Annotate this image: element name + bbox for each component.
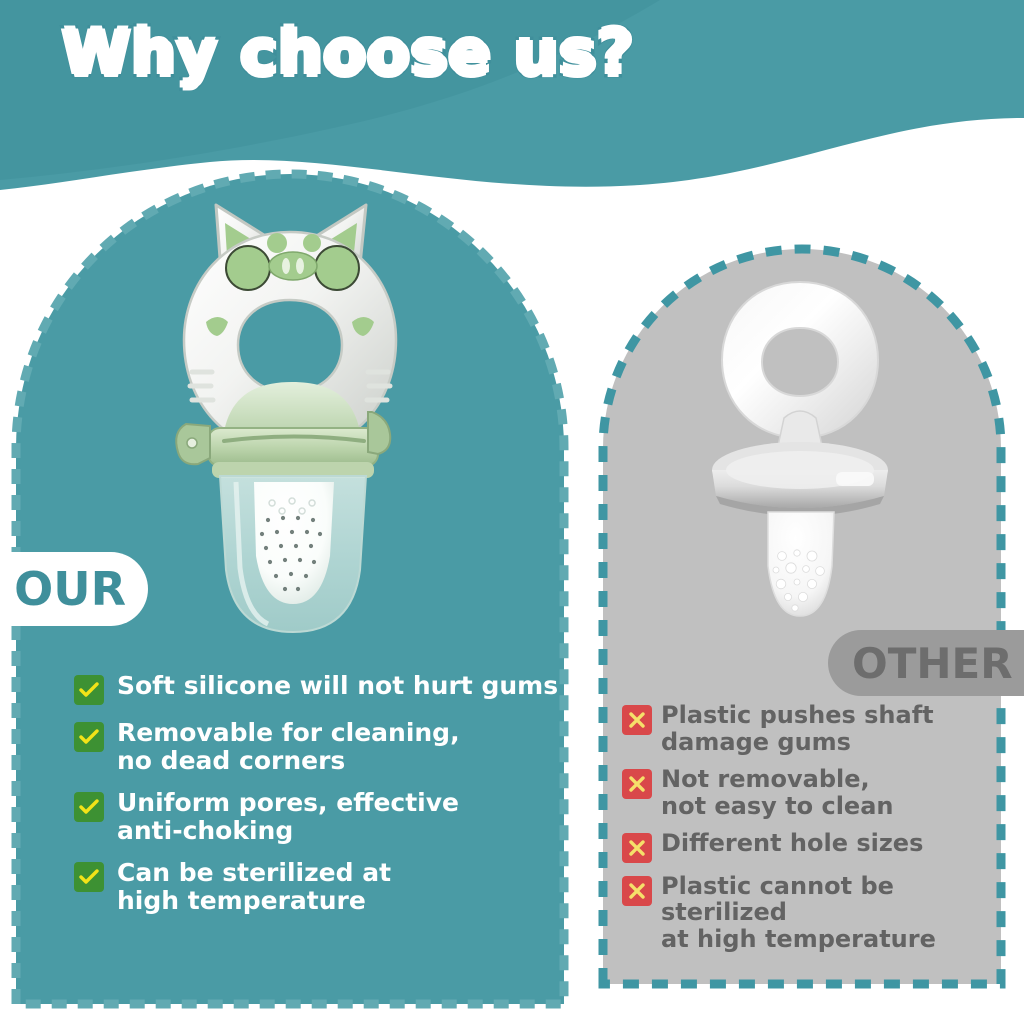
list-item: Uniform pores, effective anti-choking bbox=[74, 789, 574, 845]
list-item: Soft silicone will not hurt gums bbox=[74, 672, 574, 705]
list-item-line2: no dead corners bbox=[117, 747, 460, 775]
list-item-line2: damage gums bbox=[661, 729, 934, 756]
list-item: Plastic pushes shaft damage gums bbox=[622, 702, 1022, 756]
other-badge: OTHER bbox=[828, 630, 1024, 696]
other-feature-list: Plastic pushes shaft damage gums Not rem… bbox=[622, 702, 1022, 963]
list-item-text: Plastic pushes shaft damage gums bbox=[661, 702, 934, 756]
check-icon bbox=[74, 675, 104, 705]
other-product-image bbox=[712, 282, 888, 616]
list-item: Plastic cannot be sterilized at high tem… bbox=[622, 873, 1022, 954]
other-badge-label: OTHER bbox=[852, 639, 1013, 688]
check-icon bbox=[74, 862, 104, 892]
cross-icon bbox=[622, 769, 652, 799]
list-item: Removable for cleaning, no dead corners bbox=[74, 719, 574, 775]
our-badge-label: OUR bbox=[14, 562, 126, 616]
list-item-line1: Different hole sizes bbox=[661, 829, 923, 857]
list-item-line2: anti-choking bbox=[117, 817, 459, 845]
cross-icon bbox=[622, 833, 652, 863]
list-item-text: Different hole sizes bbox=[661, 830, 923, 857]
list-item-line1: Can be sterilized at bbox=[117, 858, 391, 887]
list-item-text: Removable for cleaning, no dead corners bbox=[117, 719, 460, 775]
list-item-line2: high temperature bbox=[117, 887, 391, 915]
list-item: Can be sterilized at high temperature bbox=[74, 859, 574, 915]
list-item-line2: not easy to clean bbox=[661, 793, 894, 820]
list-item-line1: Soft silicone will not hurt gums bbox=[117, 671, 558, 700]
check-icon bbox=[74, 792, 104, 822]
list-item-line1: Plastic cannot be sterilized bbox=[661, 872, 894, 927]
list-item-line2: at high temperature bbox=[661, 926, 1022, 953]
list-item: Not removable, not easy to clean bbox=[622, 766, 1022, 820]
header-banner: Why choose us? Why choose us? bbox=[0, 0, 1024, 200]
cross-icon bbox=[622, 705, 652, 735]
list-item-line1: Uniform pores, effective bbox=[117, 788, 459, 817]
list-item-line1: Plastic pushes shaft bbox=[661, 701, 934, 729]
list-item-line1: Not removable, bbox=[661, 765, 870, 793]
our-product-image bbox=[176, 205, 396, 632]
list-item-text: Not removable, not easy to clean bbox=[661, 766, 894, 820]
check-icon bbox=[74, 722, 104, 752]
list-item-text: Uniform pores, effective anti-choking bbox=[117, 789, 459, 845]
list-item-text: Can be sterilized at high temperature bbox=[117, 859, 391, 915]
infographic-canvas: Why choose us? Why choose us? OUR OTHER … bbox=[0, 0, 1024, 1013]
our-badge: OUR bbox=[0, 552, 148, 626]
our-feature-list: Soft silicone will not hurt gums Removab… bbox=[74, 672, 574, 929]
list-item: Different hole sizes bbox=[622, 830, 1022, 863]
page-title-outline: Why choose us? bbox=[62, 16, 634, 89]
cross-icon bbox=[622, 876, 652, 906]
list-item-text: Plastic cannot be sterilized at high tem… bbox=[661, 873, 1022, 954]
list-item-line1: Removable for cleaning, bbox=[117, 718, 460, 747]
list-item-text: Soft silicone will not hurt gums bbox=[117, 672, 558, 700]
